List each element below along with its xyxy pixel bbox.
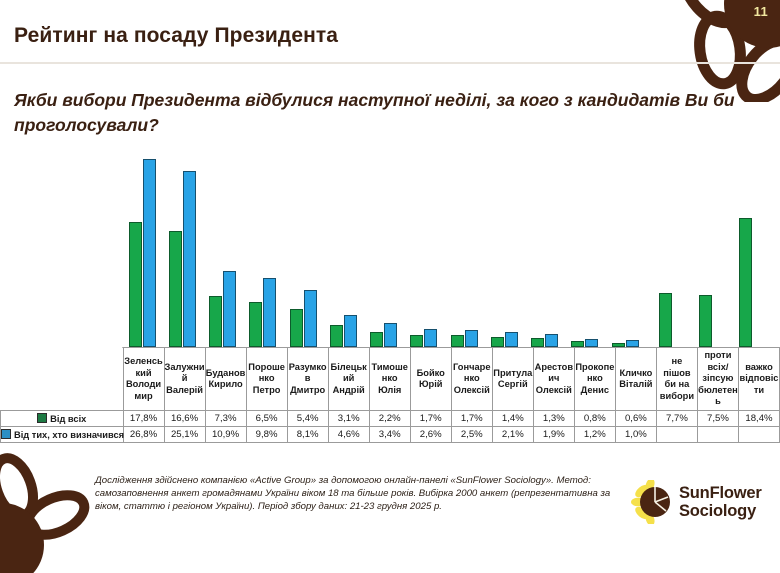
chart-bar [505,332,518,347]
table-value-cell: 8,1% [287,427,328,443]
table-body: Від всіх17,8%16,6%7,3%6,5%5,4%3,1%2,2%1,… [1,411,780,443]
chart-bar [223,271,236,347]
table-value-cell: 7,5% [697,411,738,427]
chart-category-group [484,150,524,347]
table-value-cell: 7,3% [205,411,246,427]
chart-bar [491,337,504,347]
chart-bar [304,290,317,347]
series-legend-label: Від тих, хто визначився [1,427,124,443]
chart-bar [183,171,196,347]
survey-question: Якби вибори Президента відбулися наступн… [14,88,770,138]
table-category-header: Прокопенко Денис [574,348,615,411]
chart-category-group [565,150,605,347]
table-header-row: Зеленський ВолодимирЗалужний ВалерійБуда… [1,348,780,411]
table-value-cell: 3,1% [328,411,369,427]
table-category-header: Білецький Андрій [328,348,369,411]
chart-bar [739,218,752,347]
chart-category-group [726,150,766,347]
chart-bar [410,335,423,347]
chart-bar [451,335,464,347]
table-value-cell: 18,4% [738,411,779,427]
table-category-header: Залужний Валерій [164,348,205,411]
chart-category-group [605,150,645,347]
table-value-cell: 5,4% [287,411,328,427]
chart-category-group [203,150,243,347]
table-category-header: Тимошенко Юлія [369,348,410,411]
bar-chart [122,150,766,348]
table-value-cell: 0,8% [574,411,615,427]
table-value-cell: 1,9% [533,427,574,443]
chart-bar [209,296,222,347]
chart-category-group [404,150,444,347]
chart-bar [370,332,383,347]
table-value-cell [697,427,738,443]
table-value-cell: 1,3% [533,411,574,427]
chart-category-group [645,150,685,347]
table-category-header: Гончаренко Олексій [451,348,492,411]
chart-bar [424,329,437,347]
chart-category-group [122,150,162,347]
table-value-cell: 1,2% [574,427,615,443]
table-category-header: Арестович Олексій [533,348,574,411]
chart-bar [699,295,712,348]
chart-bar [290,309,303,347]
table-value-cell: 25,1% [164,427,205,443]
table-value-cell: 17,8% [123,411,164,427]
table-category-header: проти всіх/зіпсую бюлетень [697,348,738,411]
table-value-cell: 1,7% [451,411,492,427]
table-value-cell: 1,7% [410,411,451,427]
table-category-header: Порошенко Петро [246,348,287,411]
table-value-cell: 10,9% [205,427,246,443]
table-value-cell [656,427,697,443]
table-category-header: Зеленський Володимир [123,348,164,411]
table-corner-cell [1,348,124,411]
chart-category-group [364,150,404,347]
table-category-header: Притула Сергій [492,348,533,411]
table-value-cell: 1,4% [492,411,533,427]
chart-bar [169,231,182,347]
page-title: Рейтинг на посаду Президента [14,24,338,48]
table-value-cell: 26,8% [123,427,164,443]
chart-category-group [162,150,202,347]
chart-plot-area [122,150,766,348]
chart-category-group [323,150,363,347]
logo-line-1: SunFlower [679,484,762,502]
chart-bar [129,222,142,347]
table-value-cell: 1,0% [615,427,656,443]
sunflower-sociology-logo: SunFlower Sociology [630,478,775,526]
flower-decoration-bottom-left [0,453,98,573]
chart-bar [531,338,544,347]
table-category-header: важко відповісти [738,348,779,411]
table-value-cell: 2,6% [410,427,451,443]
table-category-header: Разумков Дмитро [287,348,328,411]
chart-bar [659,293,672,347]
table-value-cell: 9,8% [246,427,287,443]
table-value-cell [738,427,779,443]
chart-category-group [243,150,283,347]
table-value-cell: 4,6% [328,427,369,443]
table-category-header: Бойко Юрій [410,348,451,411]
chart-bar [626,340,639,347]
chart-bar [143,159,156,347]
title-divider [0,62,780,64]
table-value-cell: 7,7% [656,411,697,427]
chart-bar [585,339,598,347]
chart-bar [344,315,357,347]
methodology-note: Дослідження здійснено компанією «Active … [95,474,615,514]
table-value-cell: 2,1% [492,427,533,443]
table-value-cell: 2,2% [369,411,410,427]
table-value-cell: 3,4% [369,427,410,443]
sunflower-logo-icon [630,480,674,524]
logo-line-2: Sociology [679,502,762,520]
table-value-cell: 16,6% [164,411,205,427]
chart-bar [330,325,343,347]
chart-category-group [525,150,565,347]
chart-category-group [444,150,484,347]
table-value-cell: 6,5% [246,411,287,427]
table-row: Від всіх17,8%16,6%7,3%6,5%5,4%3,1%2,2%1,… [1,411,780,427]
chart-bar [465,330,478,348]
chart-bar [263,278,276,347]
legend-swatch-blue-icon [1,429,11,439]
legend-swatch-green-icon [37,413,47,423]
chart-bar [545,334,558,347]
chart-category-group [283,150,323,347]
chart-bar [249,302,262,348]
table-value-cell: 2,5% [451,427,492,443]
table-category-header: Кличко Віталій [615,348,656,411]
table-row: Від тих, хто визначився26,8%25,1%10,9%9,… [1,427,780,443]
data-table: Зеленський ВолодимирЗалужний ВалерійБуда… [0,347,780,443]
table-category-header: Буданов Кирило [205,348,246,411]
series-legend-label: Від всіх [1,411,124,427]
logo-text: SunFlower Sociology [679,484,762,520]
chart-category-group [686,150,726,347]
chart-bar [384,323,397,347]
table-category-header: не пішов би на вибори [656,348,697,411]
table-value-cell: 0,6% [615,411,656,427]
page-number: 11 [754,4,768,19]
